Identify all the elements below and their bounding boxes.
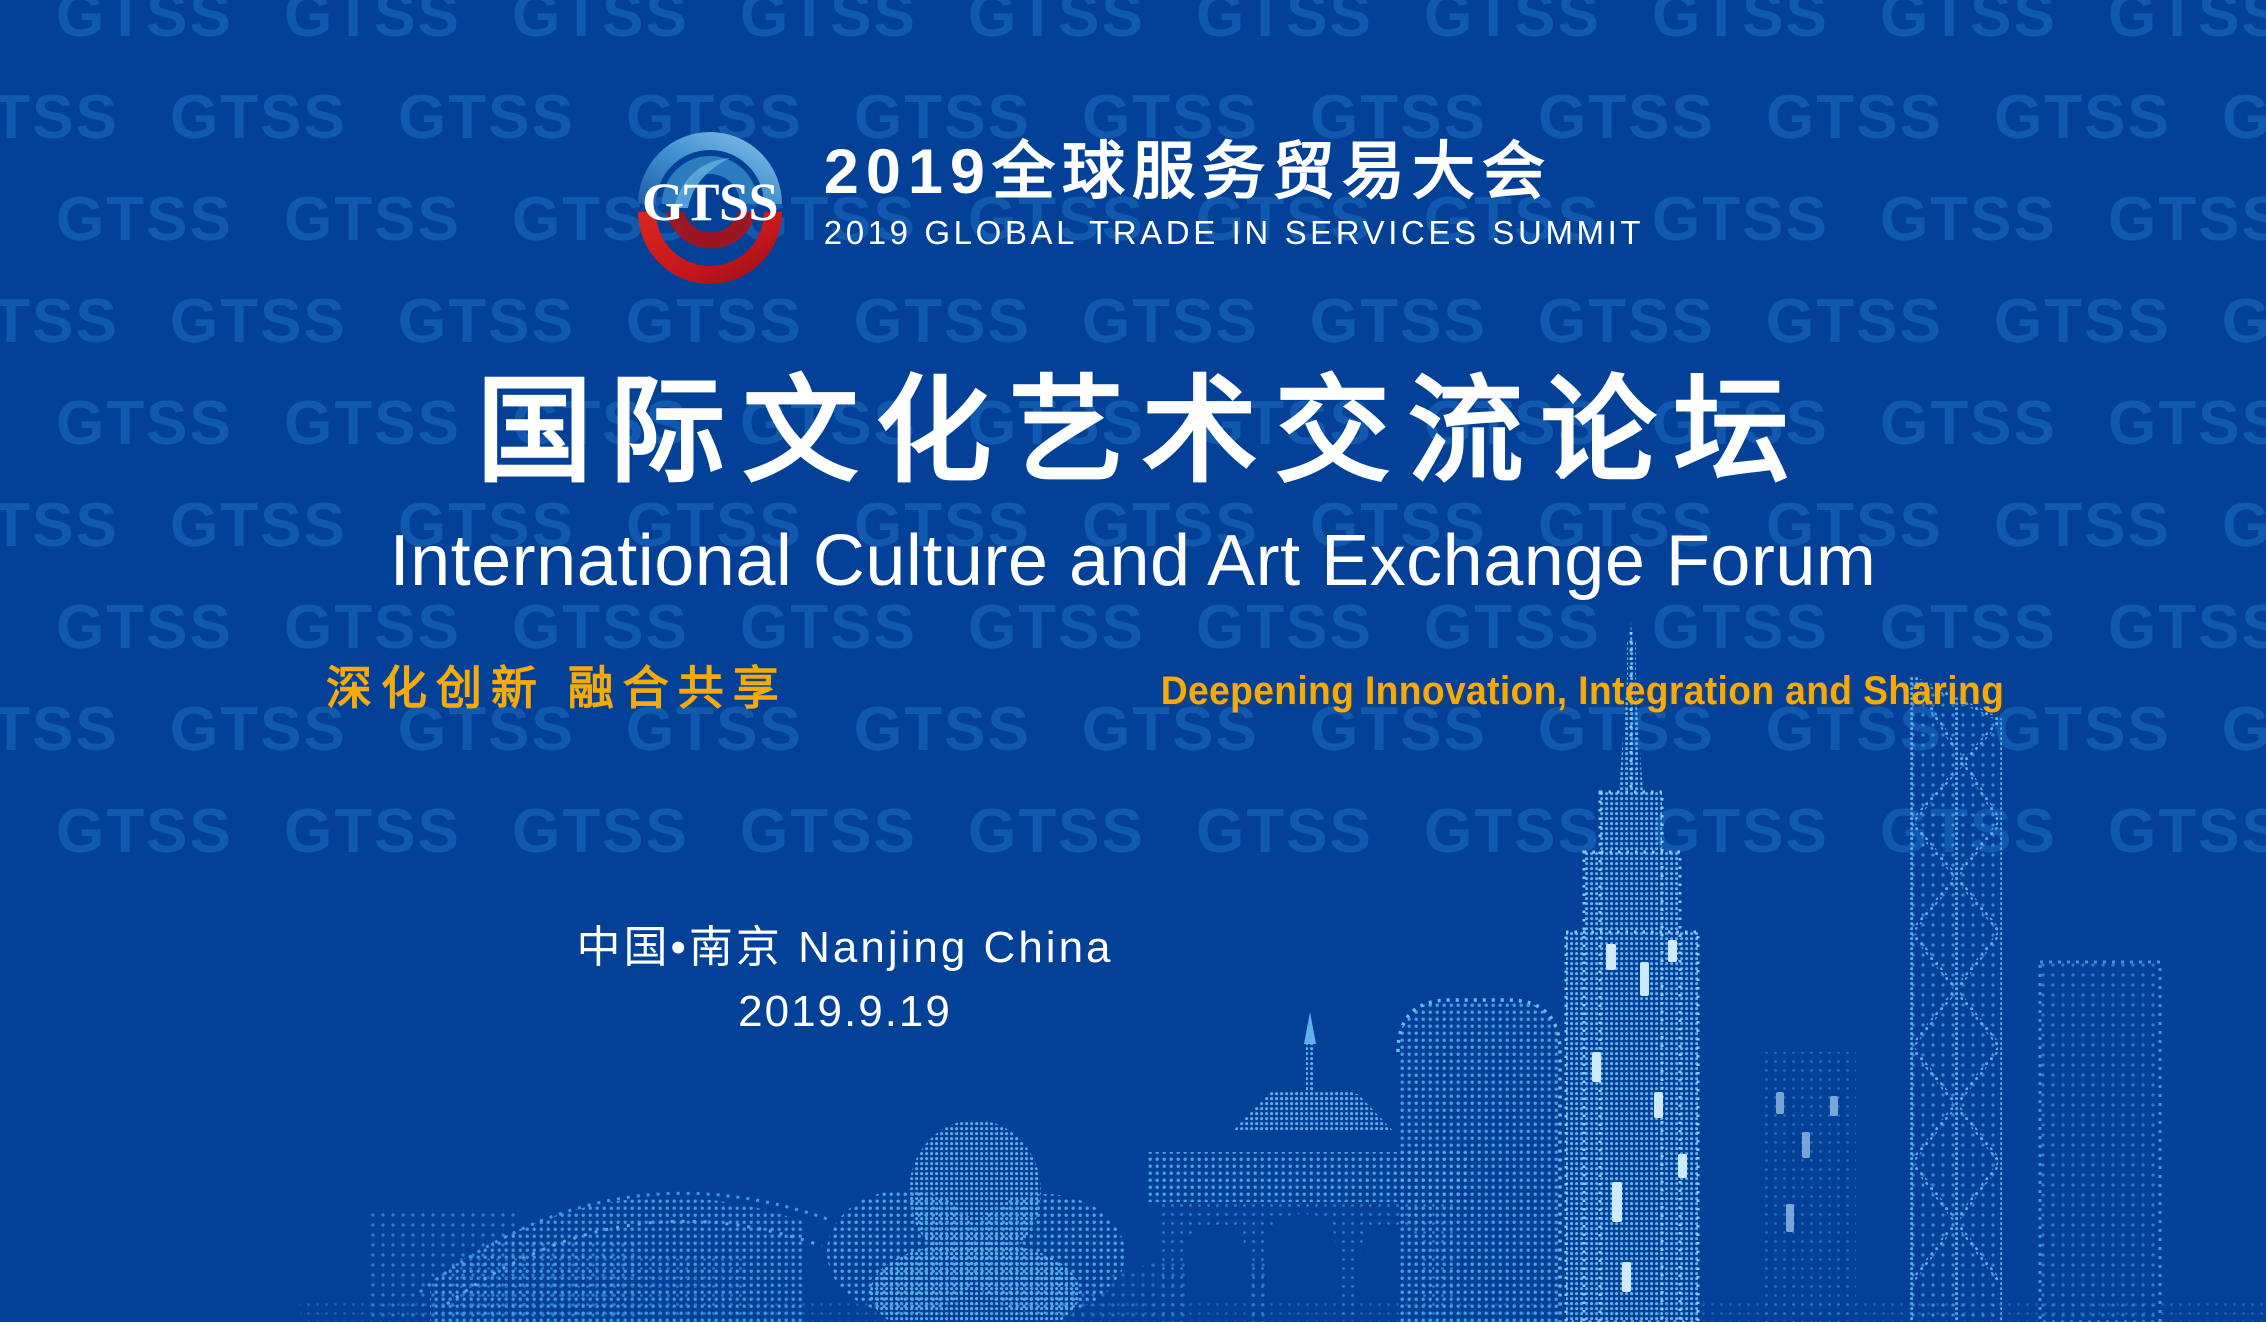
event-name-cn: 2019全球服务贸易大会	[824, 138, 1644, 206]
venue-block: 中国•南京 Nanjing China 2019.9.19	[0, 920, 1690, 1041]
watermark-text: GTSS	[1766, 286, 1994, 357]
event-poster: GTSSGTSSGTSSGTSSGTSSGTSSGTSSGTSSGTSSGTSS…	[0, 0, 2266, 1322]
watermark-text: GTSS	[56, 0, 284, 51]
masthead: GTSS 2019全球服务贸易大会 2019 GLOBAL TRADE IN S…	[0, 108, 2266, 284]
watermark-text: GTSS	[740, 796, 968, 867]
watermark-text: GTSS	[2108, 0, 2266, 51]
city-skyline-graphic	[0, 492, 2266, 1322]
gtss-logo-text: GTSS	[642, 172, 778, 232]
watermark-text: GTSS	[1196, 0, 1424, 51]
watermark-text: GTSS	[0, 694, 170, 765]
watermark-text: GTSS	[2108, 796, 2266, 867]
watermark-text: GTSS	[740, 0, 968, 51]
event-name-en: 2019 GLOBAL TRADE IN SERVICES SUMMIT	[824, 212, 1644, 253]
watermark-text: GTSS	[1310, 286, 1538, 357]
watermark-text: GTSS	[1082, 286, 1310, 357]
watermark-text: GTSS	[0, 286, 170, 357]
watermark-row: GTSSGTSSGTSSGTSSGTSSGTSSGTSSGTSSGTSSGTSS…	[0, 286, 2266, 357]
watermark-text: GTSS	[2222, 286, 2266, 357]
watermark-text: GTSS	[626, 286, 854, 357]
watermark-row: GTSSGTSSGTSSGTSSGTSSGTSSGTSSGTSSGTSSGTSS…	[56, 796, 2266, 867]
watermark-text: GTSS	[1994, 286, 2222, 357]
watermark-text: GTSS	[284, 0, 512, 51]
watermark-text: GTSS	[1652, 796, 1880, 867]
venue-date: 2019.9.19	[0, 984, 1690, 1040]
watermark-text: GTSS	[512, 796, 740, 867]
watermark-text: GTSS	[1880, 796, 2108, 867]
watermark-text: GTSS	[968, 0, 1196, 51]
slogan-row: 深化创新 融合共享 Deepening Innovation, Integrat…	[326, 652, 2036, 718]
watermark-text: GTSS	[1196, 796, 1424, 867]
forum-title-en: International Culture and Art Exchange F…	[0, 522, 2266, 601]
watermark-text: GTSS	[1424, 796, 1652, 867]
watermark-text: GTSS	[398, 286, 626, 357]
watermark-text: GTSS	[170, 286, 398, 357]
watermark-text: GTSS	[1538, 286, 1766, 357]
watermark-text: GTSS	[284, 796, 512, 867]
venue-place: 中国•南京 Nanjing China	[0, 920, 1690, 976]
watermark-row: GTSSGTSSGTSSGTSSGTSSGTSSGTSSGTSSGTSSGTSS…	[56, 0, 2266, 51]
watermark-text: GTSS	[2108, 592, 2266, 663]
watermark-text: GTSS	[1880, 0, 2108, 51]
watermark-text: GTSS	[854, 286, 1082, 357]
watermark-text: GTSS	[56, 796, 284, 867]
gtss-logo: GTSS	[622, 108, 798, 284]
watermark-text: GTSS	[56, 592, 284, 663]
watermark-text: GTSS	[2222, 694, 2266, 765]
watermark-text: GTSS	[1424, 0, 1652, 51]
watermark-text: GTSS	[968, 796, 1196, 867]
watermark-text: GTSS	[512, 0, 740, 51]
watermark-text: GTSS	[1652, 0, 1880, 51]
slogan-en: Deepening Innovation, Integration and Sh…	[1161, 669, 2004, 714]
forum-title-cn: 国际文化艺术交流论坛	[0, 373, 2266, 489]
slogan-cn: 深化创新 融合共享	[326, 652, 788, 718]
